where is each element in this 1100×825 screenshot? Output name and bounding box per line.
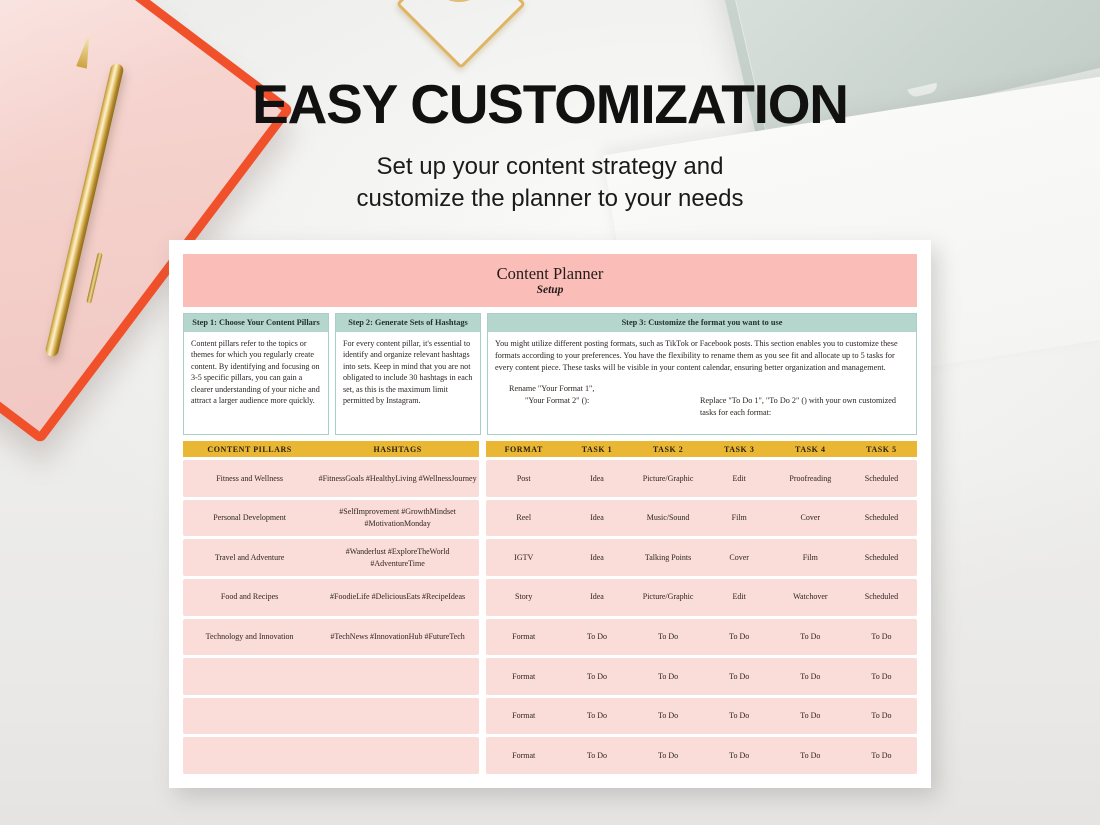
- pillars-col-header-pillars: CONTENT PILLARS: [183, 445, 316, 454]
- cell-pillar[interactable]: Food and Recipes: [183, 591, 316, 603]
- table-row[interactable]: Fitness and Wellness #FitnessGoals #Heal…: [183, 460, 479, 497]
- cell-task-1[interactable]: To Do: [561, 631, 632, 643]
- cell-hashtags[interactable]: #FitnessGoals #HealthyLiving #WellnessJo…: [316, 473, 479, 485]
- cell-hashtags[interactable]: #TechNews #InnovationHub #FutureTech: [316, 631, 479, 643]
- cell-task-5[interactable]: Scheduled: [846, 473, 917, 485]
- step-1-heading: Step 1: Choose Your Content Pillars: [184, 314, 328, 332]
- table-row[interactable]: Format To Do To Do To Do To Do To Do: [486, 619, 917, 656]
- cell-format[interactable]: Format: [486, 710, 561, 722]
- table-row[interactable]: Post Idea Picture/Graphic Edit Proofread…: [486, 460, 917, 497]
- planner-sheet: Content Planner Setup Step 1: Choose You…: [183, 254, 917, 774]
- cell-task-4[interactable]: To Do: [775, 710, 846, 722]
- table-row[interactable]: [183, 737, 479, 774]
- step-1-box: Step 1: Choose Your Content Pillars Cont…: [183, 313, 329, 435]
- cell-task-2[interactable]: To Do: [633, 671, 704, 683]
- document-title: Content Planner: [497, 265, 604, 284]
- table-row[interactable]: [183, 698, 479, 735]
- cell-pillar[interactable]: Travel and Adventure: [183, 552, 316, 564]
- cell-pillar[interactable]: Personal Development: [183, 512, 316, 524]
- cell-task-1[interactable]: Idea: [561, 552, 632, 564]
- table-row[interactable]: Food and Recipes #FoodieLife #DeliciousE…: [183, 579, 479, 616]
- cell-hashtags[interactable]: #Wanderlust #ExploreTheWorld #AdventureT…: [316, 546, 479, 569]
- cell-task-2[interactable]: To Do: [633, 710, 704, 722]
- cell-task-2[interactable]: Picture/Graphic: [633, 473, 704, 485]
- step-3-rename-row: Rename "Your Format 1", "Your Format 2" …: [495, 383, 909, 420]
- cell-task-1[interactable]: Idea: [561, 591, 632, 603]
- page-subtitle-line-1: Set up your content strategy and: [0, 151, 1100, 183]
- formats-col-header-task-4: TASK 4: [775, 445, 846, 454]
- table-row[interactable]: IGTV Idea Talking Points Cover Film Sche…: [486, 539, 917, 576]
- tables-row: CONTENT PILLARS HASHTAGS Fitness and Wel…: [183, 441, 917, 774]
- pillars-table-body: Fitness and Wellness #FitnessGoals #Heal…: [183, 457, 479, 774]
- cell-task-4[interactable]: Watchover: [775, 591, 846, 603]
- cell-task-4[interactable]: To Do: [775, 671, 846, 683]
- page-title: EASY CUSTOMIZATION: [0, 76, 1100, 134]
- formats-table-body: Post Idea Picture/Graphic Edit Proofread…: [486, 457, 917, 774]
- step-2-box: Step 2: Generate Sets of Hashtags For ev…: [335, 313, 481, 435]
- cell-format[interactable]: Format: [486, 671, 561, 683]
- step-3-heading: Step 3: Customize the format you want to…: [488, 314, 916, 332]
- table-row[interactable]: Personal Development #SelfImprovement #G…: [183, 500, 479, 537]
- formats-col-header-task-3: TASK 3: [704, 445, 775, 454]
- cell-task-4[interactable]: Film: [775, 552, 846, 564]
- cell-task-3[interactable]: Film: [704, 512, 775, 524]
- cell-task-4[interactable]: To Do: [775, 631, 846, 643]
- cell-task-5[interactable]: To Do: [846, 750, 917, 762]
- page-subtitle: Set up your content strategy and customi…: [0, 151, 1100, 216]
- cell-format[interactable]: Format: [486, 631, 561, 643]
- step-2-body: For every content pillar, it's essential…: [336, 332, 480, 411]
- rename-instruction-line-1: Rename "Your Format 1",: [509, 383, 700, 395]
- document-subtitle: Setup: [537, 284, 564, 296]
- pillars-table-header: CONTENT PILLARS HASHTAGS: [183, 441, 479, 457]
- cell-task-4[interactable]: Proofreading: [775, 473, 846, 485]
- cell-task-3[interactable]: Cover: [704, 552, 775, 564]
- cell-task-2[interactable]: To Do: [633, 750, 704, 762]
- cell-hashtags[interactable]: #SelfImprovement #GrowthMindset #Motivat…: [316, 506, 479, 529]
- cell-pillar[interactable]: Technology and Innovation: [183, 631, 316, 643]
- cell-format[interactable]: Story: [486, 591, 561, 603]
- page-subtitle-line-2: customize the planner to your needs: [0, 183, 1100, 215]
- cell-task-2[interactable]: To Do: [633, 631, 704, 643]
- cell-task-3[interactable]: Edit: [704, 591, 775, 603]
- cell-task-3[interactable]: To Do: [704, 671, 775, 683]
- step-3-body-wrap: You might utilize different posting form…: [488, 332, 916, 423]
- cell-task-1[interactable]: To Do: [561, 750, 632, 762]
- cell-task-1[interactable]: Idea: [561, 473, 632, 485]
- step-3-body: You might utilize different posting form…: [495, 338, 909, 374]
- rename-instruction: Rename "Your Format 1", "Your Format 2" …: [495, 383, 700, 420]
- table-row[interactable]: Story Idea Picture/Graphic Edit Watchove…: [486, 579, 917, 616]
- cell-task-5[interactable]: Scheduled: [846, 512, 917, 524]
- cell-task-5[interactable]: To Do: [846, 671, 917, 683]
- formats-col-header-format: FORMAT: [486, 445, 561, 454]
- table-row[interactable]: Format To Do To Do To Do To Do To Do: [486, 698, 917, 735]
- table-row[interactable]: Travel and Adventure #Wanderlust #Explor…: [183, 539, 479, 576]
- table-row[interactable]: Reel Idea Music/Sound Film Cover Schedul…: [486, 500, 917, 537]
- pillars-col-header-hashtags: HASHTAGS: [316, 445, 479, 454]
- cell-format[interactable]: Post: [486, 473, 561, 485]
- step-2-heading: Step 2: Generate Sets of Hashtags: [336, 314, 480, 332]
- formats-col-header-task-1: TASK 1: [561, 445, 632, 454]
- rename-instruction-line-2: "Your Format 2" ():: [509, 395, 700, 407]
- steps-row: Step 1: Choose Your Content Pillars Cont…: [183, 313, 917, 435]
- cell-pillar[interactable]: Fitness and Wellness: [183, 473, 316, 485]
- formats-table-header: FORMAT TASK 1 TASK 2 TASK 3 TASK 4 TASK …: [486, 441, 917, 457]
- table-row[interactable]: Technology and Innovation #TechNews #Inn…: [183, 619, 479, 656]
- formats-col-header-task-2: TASK 2: [633, 445, 704, 454]
- cell-task-4[interactable]: Cover: [775, 512, 846, 524]
- cell-format[interactable]: IGTV: [486, 552, 561, 564]
- step-3-box: Step 3: Customize the format you want to…: [487, 313, 917, 435]
- formats-col-header-task-5: TASK 5: [846, 445, 917, 454]
- replace-instruction: Replace "To Do 1", "To Do 2" () with you…: [700, 383, 909, 420]
- cell-task-1[interactable]: To Do: [561, 710, 632, 722]
- gold-paperclip-icon: [396, 0, 526, 69]
- cell-task-2[interactable]: Picture/Graphic: [633, 591, 704, 603]
- cell-task-5[interactable]: To Do: [846, 710, 917, 722]
- cell-task-5[interactable]: To Do: [846, 631, 917, 643]
- formats-table: FORMAT TASK 1 TASK 2 TASK 3 TASK 4 TASK …: [486, 441, 917, 774]
- cell-format[interactable]: Format: [486, 750, 561, 762]
- cell-hashtags[interactable]: #FoodieLife #DeliciousEats #RecipeIdeas: [316, 591, 479, 603]
- cell-task-2[interactable]: Talking Points: [633, 552, 704, 564]
- cell-format[interactable]: Reel: [486, 512, 561, 524]
- cell-task-3[interactable]: To Do: [704, 750, 775, 762]
- cell-task-1[interactable]: To Do: [561, 671, 632, 683]
- cell-task-4[interactable]: To Do: [775, 750, 846, 762]
- table-row[interactable]: Format To Do To Do To Do To Do To Do: [486, 658, 917, 695]
- cell-task-3[interactable]: Edit: [704, 473, 775, 485]
- cell-task-1[interactable]: Idea: [561, 512, 632, 524]
- planner-document-card: Content Planner Setup Step 1: Choose You…: [169, 240, 931, 788]
- table-row[interactable]: [183, 658, 479, 695]
- content-pillars-table: CONTENT PILLARS HASHTAGS Fitness and Wel…: [183, 441, 479, 774]
- cell-task-5[interactable]: Scheduled: [846, 591, 917, 603]
- headings-block: EASY CUSTOMIZATION Set up your content s…: [0, 76, 1100, 216]
- table-row[interactable]: Format To Do To Do To Do To Do To Do: [486, 737, 917, 774]
- cell-task-3[interactable]: To Do: [704, 631, 775, 643]
- cell-task-3[interactable]: To Do: [704, 710, 775, 722]
- cell-task-5[interactable]: Scheduled: [846, 552, 917, 564]
- document-title-banner: Content Planner Setup: [183, 254, 917, 307]
- cell-task-2[interactable]: Music/Sound: [633, 512, 704, 524]
- step-1-body: Content pillars refer to the topics or t…: [184, 332, 328, 411]
